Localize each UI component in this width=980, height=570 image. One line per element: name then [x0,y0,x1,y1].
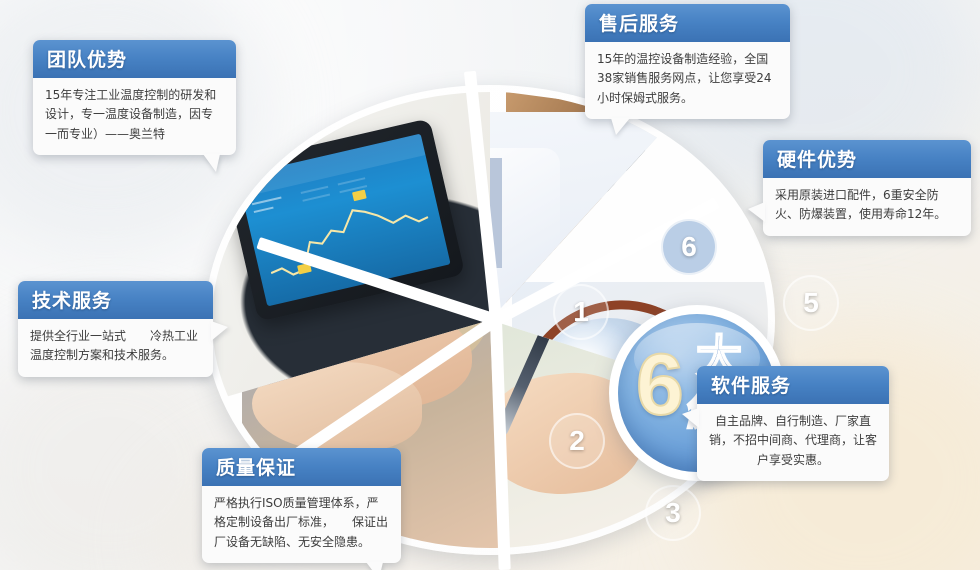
callout-body: 严格执行ISO质量管理体系，严格定制设备出厂标准， 保证出厂设备无缺陷、无安全隐… [202,486,401,563]
callout-body: 15年的温控设备制造经验，全国38家销售服务网点，让您享受24小时保姆式服务。 [585,42,790,119]
segment-number-2[interactable]: 2 [549,413,605,469]
callout-after-sales-service[interactable]: 售后服务 15年的温控设备制造经验，全国38家销售服务网点，让您享受24小时保姆… [585,4,790,119]
callout-quality-assurance[interactable]: 质量保证 严格执行ISO质量管理体系，严格定制设备出厂标准， 保证出厂设备无缺陷… [202,448,401,563]
callout-body: 采用原装进口配件，6重安全防火、防爆装置，使用寿命12年。 [763,178,971,236]
callout-tail [748,202,765,222]
segment-number-5[interactable]: 5 [783,275,839,331]
callout-title: 技术服务 [18,281,213,319]
callout-team-advantage[interactable]: 团队优势 15年专注工业温度控制的研发和设计，专一温度设备制造，因专一而专业）—… [33,40,236,155]
infographic-canvas: 1 2 3 4 5 6 6 大 优势 团队优势 15年专注工业温度控制的研发和设… [0,0,980,570]
callout-tail [611,118,630,135]
segment-number-1[interactable]: 1 [553,284,609,340]
hub-number: 6 [636,342,684,428]
callout-tail [682,408,699,428]
segment-number-6[interactable]: 6 [661,219,717,275]
callout-body: 15年专注工业温度控制的研发和设计，专一温度设备制造，因专一而专业）——奥兰特 [33,78,236,155]
callout-title: 团队优势 [33,40,236,78]
callout-tail [366,562,383,570]
callout-software-service[interactable]: 软件服务 自主品牌、自行制造、厂家直销，不招中间商、代理商，让客户享受实惠。 [697,366,889,481]
callout-tail [211,321,228,341]
segment-number-3[interactable]: 3 [645,485,701,541]
callout-tail [203,154,220,172]
callout-body: 自主品牌、自行制造、厂家直销，不招中间商、代理商，让客户享受实惠。 [697,404,889,481]
callout-title: 软件服务 [697,366,889,404]
callout-title: 硬件优势 [763,140,971,178]
callout-hardware-advantage[interactable]: 硬件优势 采用原装进口配件，6重安全防火、防爆装置，使用寿命12年。 [763,140,971,236]
callout-title: 质量保证 [202,448,401,486]
callout-technical-service[interactable]: 技术服务 提供全行业一站式 冷热工业温度控制方案和技术服务。 [18,281,213,377]
callout-title: 售后服务 [585,4,790,42]
callout-body: 提供全行业一站式 冷热工业温度控制方案和技术服务。 [18,319,213,377]
